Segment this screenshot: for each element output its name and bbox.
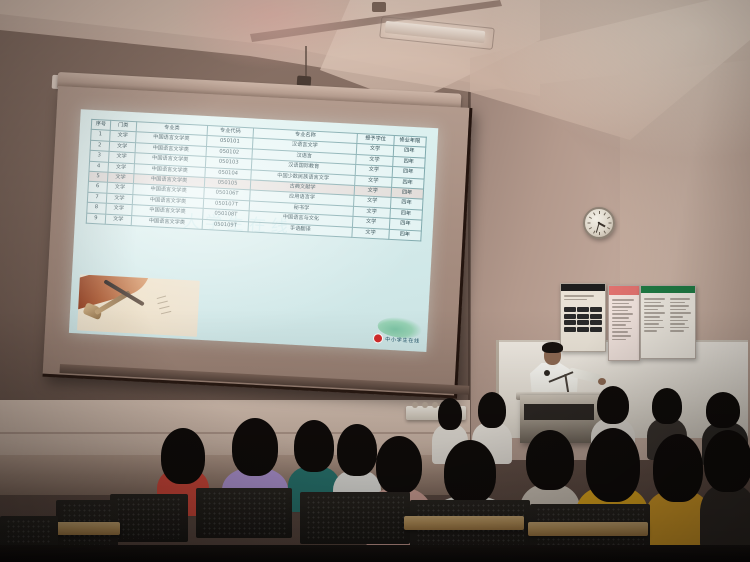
projection-screen: 大学生在线 序号 门类 专业类 专业代码 专业名称 授予学位 修业年限 [43, 86, 473, 399]
slide-logo: 中小学生在线 [373, 333, 420, 345]
cell-major-code: 050109T [202, 219, 248, 232]
logo-badge-icon [373, 333, 384, 344]
student-desk [404, 516, 524, 530]
lecturer-hand [598, 378, 606, 385]
lecturer-hair [542, 342, 563, 353]
window-glow [470, 0, 750, 170]
poster-header-band [561, 284, 605, 291]
poster-columns [641, 293, 695, 337]
cell-index: 9 [86, 213, 105, 224]
student-mid-10 [700, 430, 750, 540]
wall-poster-green [640, 285, 696, 359]
poster-grid [561, 304, 605, 335]
cell-degree: 文学 [352, 227, 389, 239]
poster-text-lines [609, 295, 639, 344]
foreground-rail [0, 545, 750, 562]
microphone-head [544, 370, 550, 376]
wall-poster-red [608, 285, 640, 361]
analog-wall-clock [583, 207, 615, 239]
classroom-photo-scene: 大学生在线 序号 门类 专业类 专业代码 专业名称 授予学位 修业年限 [0, 0, 750, 562]
poster-subtitle-lines [561, 291, 605, 304]
cell-category: 文学 [105, 214, 132, 226]
student-desk [528, 522, 648, 536]
ceiling-fixture-bracket [372, 2, 386, 12]
projected-slide: 大学生在线 序号 门类 专业类 专业代码 专业名称 授予学位 修业年限 [69, 109, 438, 352]
desk-object [422, 402, 428, 408]
screen-pull-cord [305, 46, 307, 78]
bench-seat-back [300, 492, 410, 544]
calligraphy-illustration [77, 274, 200, 336]
ceiling-pink-reflection [170, 0, 370, 70]
bench-seat-back [196, 488, 292, 538]
ink-strokes-icon [152, 292, 187, 320]
bench-seat-back [110, 494, 188, 542]
podium-equipment [524, 404, 594, 420]
logo-text: 中小学生在线 [385, 335, 420, 344]
poster-header-band [641, 286, 695, 293]
desk-object [412, 402, 418, 408]
majors-table: 序号 门类 专业类 专业代码 专业名称 授予学位 修业年限 1 文学 中国语言文… [86, 119, 427, 242]
poster-header-band [609, 286, 639, 295]
cell-duration: 四年 [388, 229, 421, 241]
